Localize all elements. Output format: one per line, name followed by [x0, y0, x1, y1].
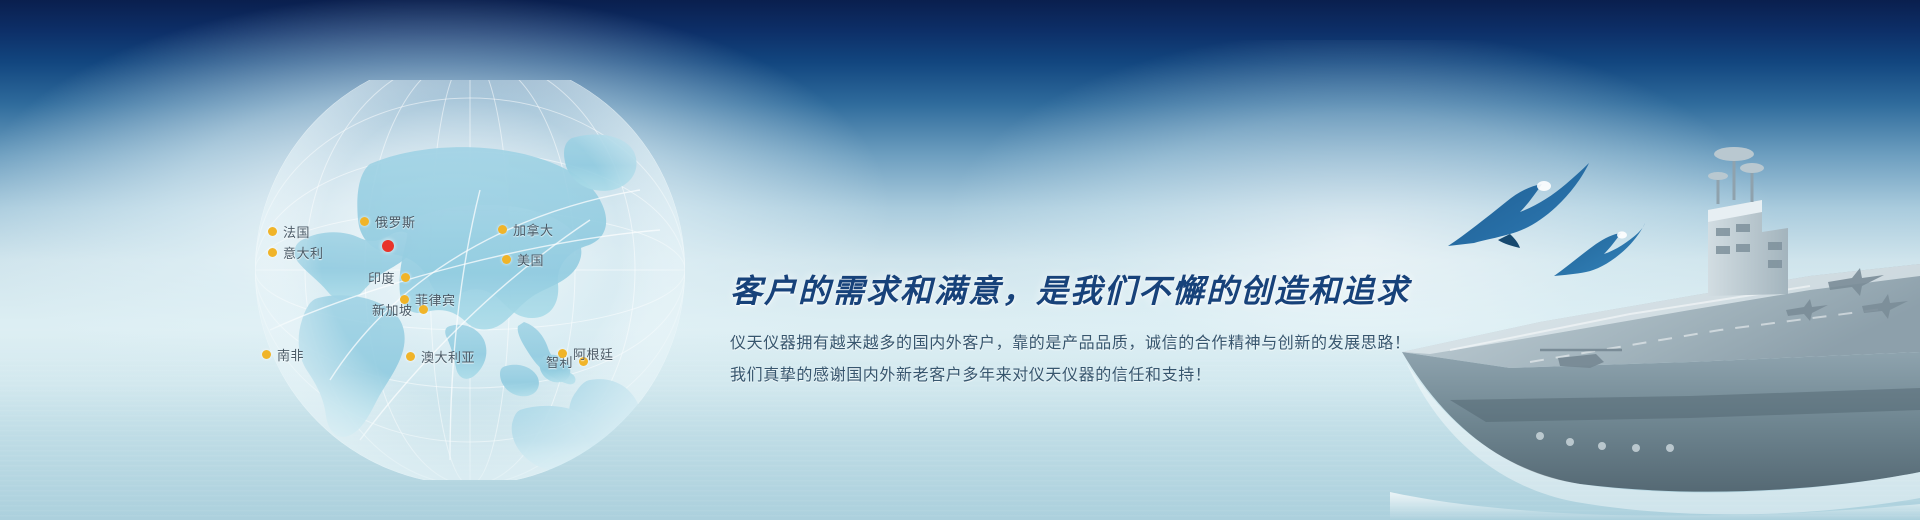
map-marker-home: [382, 240, 400, 252]
banner-copy: 客户的需求和满意，是我们不懈的创造和追求 仪天仪器拥有越来越多的国内外客户，靠的…: [730, 272, 1490, 391]
location-dot-icon: [360, 217, 369, 226]
home-location-dot-icon: [382, 240, 394, 252]
map-marker-5: 印度: [368, 268, 410, 287]
location-dot-icon: [268, 248, 277, 257]
location-dot-icon: [419, 305, 428, 314]
aircraft-carrier-graphic: [1390, 100, 1920, 520]
world-globe-graphic: [120, 80, 820, 480]
map-marker-9: 澳大利亚: [406, 347, 475, 366]
banner-subline-2: 我们真挚的感谢国内外新老客户多年来对仪天仪器的信任和支持！: [730, 360, 1490, 391]
banner-headline: 客户的需求和满意，是我们不懈的创造和追求: [730, 272, 1490, 310]
location-dot-icon: [268, 227, 277, 236]
map-marker-label: 印度: [368, 268, 395, 287]
map-marker-3: 加拿大: [498, 220, 554, 239]
map-marker-label: 意大利: [283, 243, 324, 262]
map-marker-7: 新加坡: [372, 300, 428, 319]
map-marker-label: 俄罗斯: [375, 212, 416, 231]
location-dot-icon: [406, 352, 415, 361]
map-marker-label: 新加坡: [372, 300, 413, 319]
map-marker-8: 南非: [262, 345, 304, 364]
location-dot-icon: [558, 349, 567, 358]
map-marker-4: 美国: [502, 250, 544, 269]
map-marker-label: 美国: [517, 250, 544, 269]
map-marker-0: 法国: [268, 222, 310, 241]
location-dot-icon: [502, 255, 511, 264]
map-marker-label: 南非: [277, 345, 304, 364]
map-marker-1: 意大利: [268, 243, 324, 262]
map-marker-label: 阿根廷: [573, 344, 614, 363]
map-marker-2: 俄罗斯: [360, 212, 416, 231]
map-marker-label: 法国: [283, 222, 310, 241]
location-dot-icon: [401, 273, 410, 282]
location-dot-icon: [262, 350, 271, 359]
banner-subline-1: 仪天仪器拥有越来越多的国内外客户，靠的是产品品质，诚信的合作精神与创新的发展思路…: [730, 328, 1490, 359]
map-marker-11: 阿根廷: [558, 344, 614, 363]
promo-banner: 法国意大利俄罗斯加拿大美国印度菲律宾新加坡南非澳大利亚智利阿根廷 客户的需求和满…: [0, 0, 1920, 520]
location-dot-icon: [498, 225, 507, 234]
map-marker-label: 澳大利亚: [421, 347, 475, 366]
map-marker-label: 加拿大: [513, 220, 554, 239]
